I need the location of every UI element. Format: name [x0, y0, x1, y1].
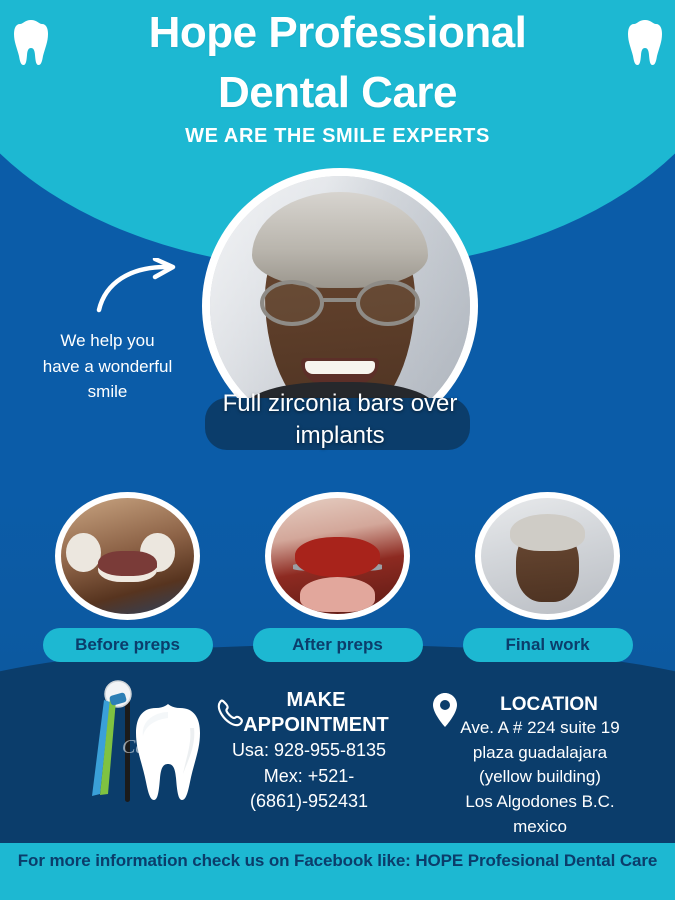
hero-caption-text: Full zirconia bars over implants: [190, 388, 490, 451]
phone-mex-line2[interactable]: (6861)-952431: [214, 789, 404, 815]
address-line-4: Los Algodones B.C.: [440, 790, 640, 815]
address-line-2: plaza guadalajara: [440, 741, 640, 766]
gallery-item[interactable]: Before preps: [43, 492, 213, 662]
gallery-photo-ring: [55, 492, 200, 620]
poster-canvas: Hope Professional Dental Care WE ARE THE…: [0, 0, 675, 900]
location-block: LOCATION Ave. A # 224 suite 19 plaza gua…: [440, 694, 640, 839]
hero-glasses: [260, 280, 420, 326]
map-pin-icon: [432, 692, 458, 733]
gallery-photo-ring: [265, 492, 410, 620]
helper-text: We help you have a wonderful smile: [40, 328, 175, 405]
gallery-item[interactable]: After preps: [253, 492, 423, 662]
gallery-label-before: Before preps: [43, 628, 213, 662]
gallery-photo-before: [61, 498, 194, 614]
gallery-photo-final: [481, 498, 614, 614]
curved-arrow-icon: [95, 258, 187, 319]
phone-usa[interactable]: Usa: 928-955-8135: [214, 738, 404, 764]
gallery-label-after: After preps: [253, 628, 423, 662]
location-title: LOCATION: [440, 694, 640, 716]
gallery-item[interactable]: Final work: [463, 492, 633, 662]
gallery-photo-after: [271, 498, 404, 614]
phone-mex-line1[interactable]: Mex: +521-: [214, 764, 404, 790]
address-line-3: (yellow building): [440, 765, 640, 790]
address-line-5: mexico: [440, 815, 640, 840]
tooth-toothbrush-mirror-illustration: Canva: [70, 678, 210, 808]
page-title-line1: Hope Professional: [0, 6, 675, 60]
gallery-photo-ring: [475, 492, 620, 620]
page-title-line2: Dental Care: [0, 66, 675, 120]
hero-smile: [301, 358, 379, 384]
footer-banner: For more information check us on Faceboo…: [0, 843, 675, 900]
page-subtitle: WE ARE THE SMILE EXPERTS: [0, 125, 675, 148]
gallery-label-final: Final work: [463, 628, 633, 662]
address-line-1: Ave. A # 224 suite 19: [440, 716, 640, 741]
canva-watermark: Canva: [122, 736, 174, 759]
phone-icon: [216, 697, 246, 734]
header: Hope Professional Dental Care WE ARE THE…: [0, 6, 675, 148]
footer-text: For more information check us on Faceboo…: [18, 851, 658, 871]
gallery-row: Before preps After preps Final work: [0, 492, 675, 662]
